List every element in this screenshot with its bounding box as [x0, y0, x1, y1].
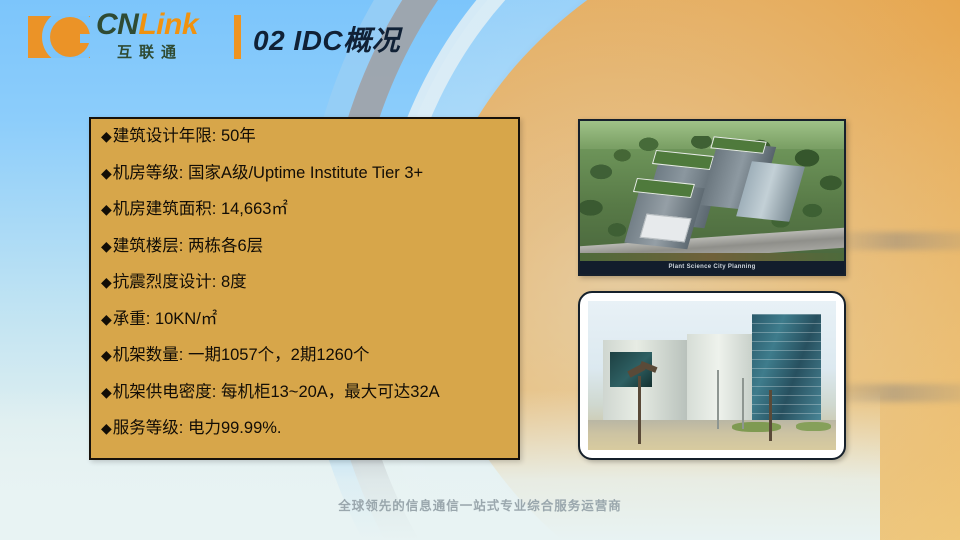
- photo2-tower-mullions: [752, 314, 821, 424]
- photo1-caption: Plant Science City Planning: [580, 261, 844, 274]
- logo-word-row: CNLink: [96, 10, 198, 40]
- logo-wordmark: CNLink 互联通: [96, 10, 198, 62]
- list-item-label: 机架数量: 一期1057个，2期1260个: [113, 347, 370, 364]
- list-item: ◆ 机架数量: 一期1057个，2期1260个: [101, 347, 508, 364]
- logo-subtitle: 互联通: [96, 41, 198, 62]
- cnlink-logo-icon: [28, 16, 90, 58]
- spec-panel: ◆ 建筑设计年限: 50年 ◆ 机房等级: 国家A级/Uptime Instit…: [89, 117, 520, 460]
- list-item-label: 承重: 10KN/㎡: [113, 311, 218, 328]
- footer-tagline: 全球领先的信息通信一站式专业综合服务运营商: [0, 495, 960, 514]
- list-item-label: 建筑楼层: 两栋各6层: [113, 238, 263, 255]
- page-title: 02 IDC概况: [253, 19, 400, 59]
- list-item-label: 机房等级: 国家A级/Uptime Institute Tier 3+: [113, 165, 423, 182]
- photo2-lamp-post: [742, 378, 744, 429]
- list-item-label: 机房建筑面积: 14,663㎡: [113, 201, 288, 218]
- photo2-shrub: [796, 422, 831, 431]
- photo2-tree: [769, 390, 772, 441]
- photo2-shrub: [732, 422, 782, 432]
- list-item-label: 机架供电密度: 每机柜13~20A，最大可达32A: [113, 384, 440, 401]
- diamond-bullet-icon: ◆: [101, 166, 112, 180]
- diamond-bullet-icon: ◆: [101, 312, 112, 326]
- logo-slot-shape: [80, 34, 90, 43]
- list-item-label: 服务等级: 电力99.99%.: [113, 420, 282, 437]
- photo1-foreground-strip: [580, 253, 844, 261]
- photo2-tree: [638, 376, 641, 445]
- list-item: ◆ 抗震烈度设计: 8度: [101, 274, 508, 291]
- diamond-bullet-icon: ◆: [101, 275, 112, 289]
- office-buildings-photo: [578, 291, 846, 460]
- slide-header: CNLink 互联通 02 IDC概况: [0, 0, 960, 78]
- logo-word-cn: CN: [96, 8, 138, 41]
- aerial-render-photo: Plant Science City Planning: [578, 119, 846, 276]
- logo-word-link: Link: [138, 8, 198, 41]
- list-item-label: 抗震烈度设计: 8度: [113, 274, 247, 291]
- title-accent-bar: [234, 15, 241, 59]
- slide-canvas: CNLink 互联通 02 IDC概况 ◆ 建筑设计年限: 50年 ◆ 机房等级…: [0, 0, 960, 540]
- photo2-building-mid: [687, 334, 756, 429]
- list-item: ◆ 服务等级: 电力99.99%.: [101, 420, 508, 437]
- list-item: ◆ 机房等级: 国家A级/Uptime Institute Tier 3+: [101, 165, 508, 182]
- diamond-bullet-icon: ◆: [101, 202, 112, 216]
- list-item: ◆ 建筑楼层: 两栋各6层: [101, 238, 508, 255]
- list-item: ◆ 机房建筑面积: 14,663㎡: [101, 201, 508, 218]
- list-item-label: 建筑设计年限: 50年: [113, 128, 256, 145]
- list-item: ◆ 机架供电密度: 每机柜13~20A，最大可达32A: [101, 384, 508, 401]
- photo2-scene: [588, 301, 836, 450]
- diamond-bullet-icon: ◆: [101, 239, 112, 253]
- list-item: ◆ 承重: 10KN/㎡: [101, 311, 508, 328]
- diamond-bullet-icon: ◆: [101, 385, 112, 399]
- photo2-lamp-post: [717, 370, 719, 430]
- list-item: ◆ 建筑设计年限: 50年: [101, 128, 508, 145]
- diamond-bullet-icon: ◆: [101, 348, 112, 362]
- diamond-bullet-icon: ◆: [101, 421, 112, 435]
- photo1-white-annex: [640, 214, 692, 243]
- diamond-bullet-icon: ◆: [101, 129, 112, 143]
